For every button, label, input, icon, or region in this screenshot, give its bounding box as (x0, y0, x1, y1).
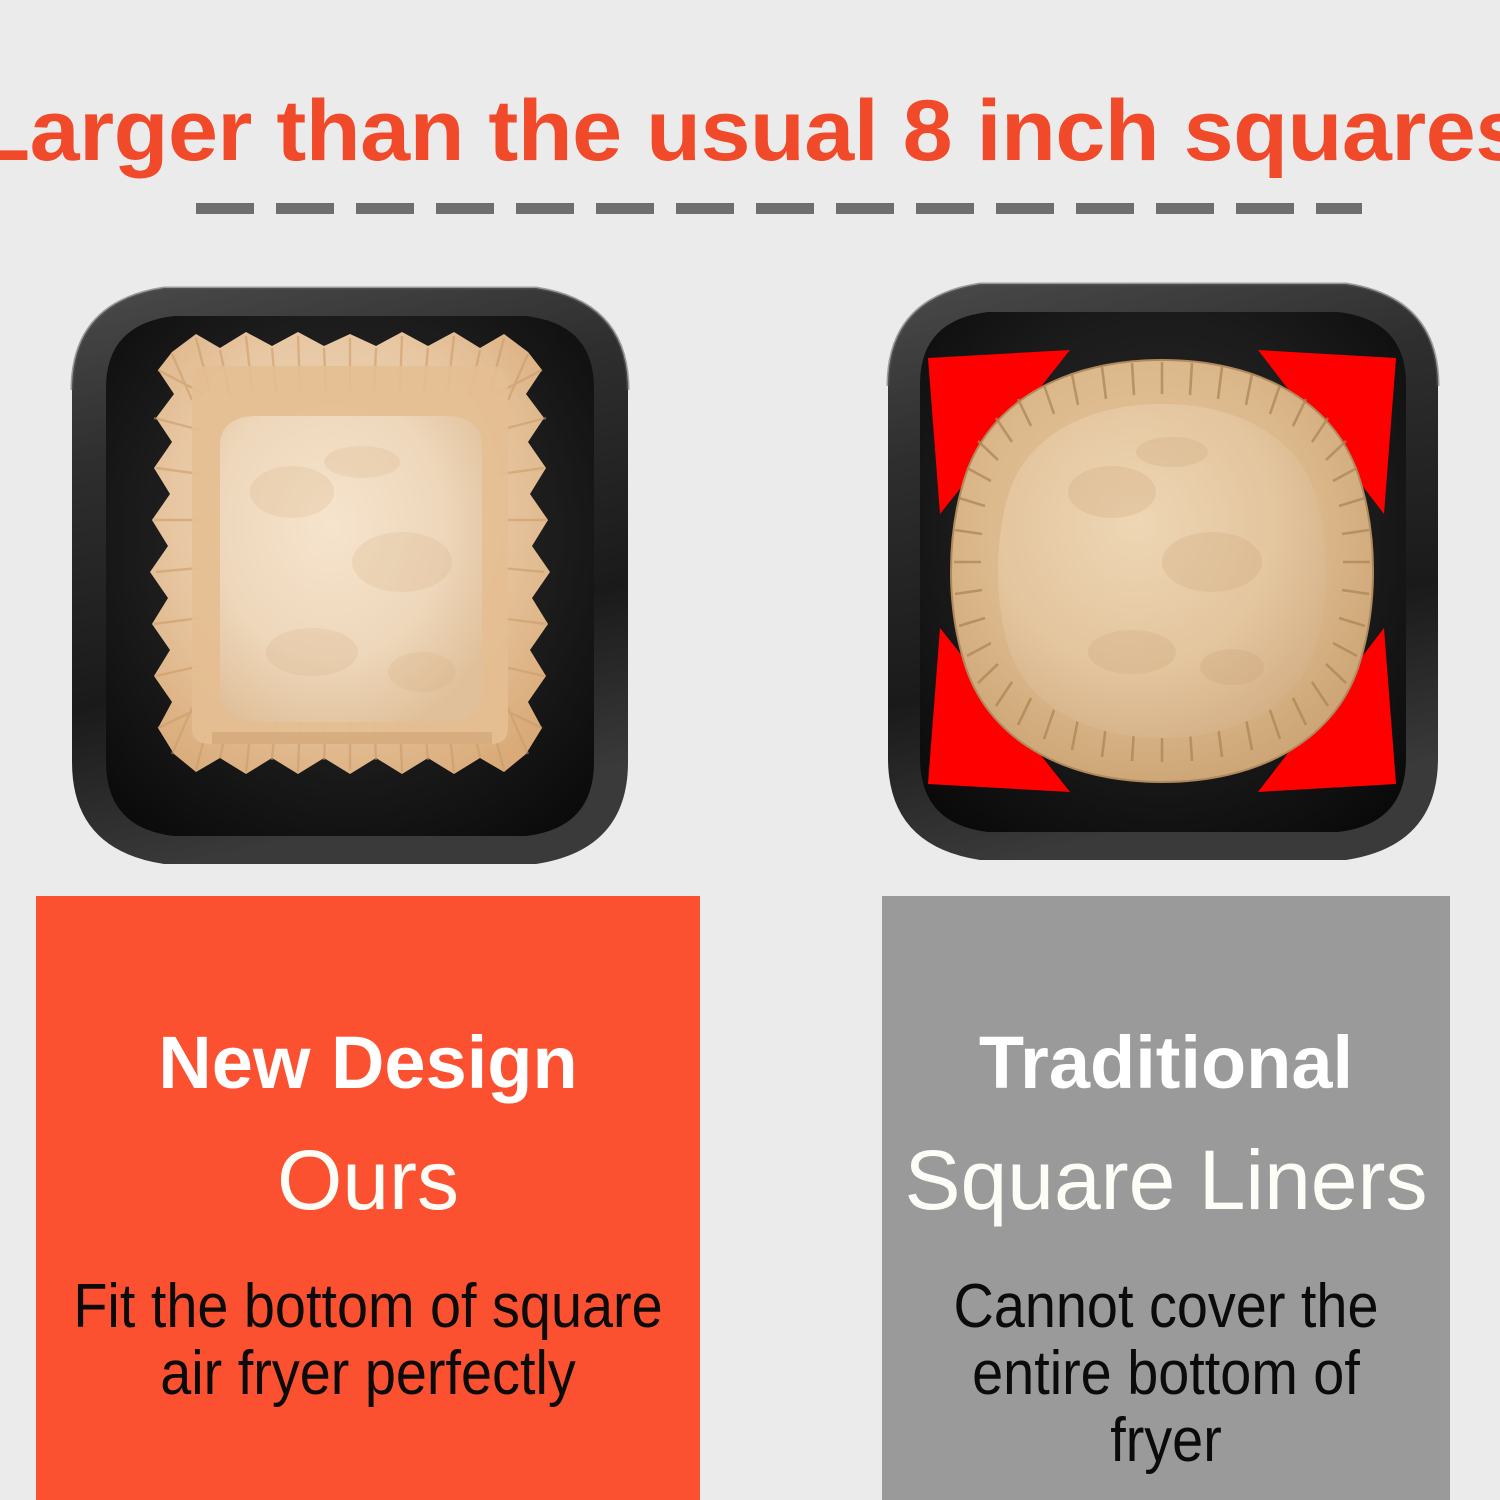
dashed-divider (196, 203, 1362, 214)
panel-traditional-title: Traditional (882, 1026, 1450, 1100)
comparison-panel-ours: New Design Ours Fit the bottom of square… (36, 896, 700, 1500)
panel-traditional-subtitle: Square Liners (882, 1138, 1450, 1222)
panel-traditional-body: Cannot cover the entire bottom of fryer (910, 1274, 1421, 1475)
comparison-panel-traditional: Traditional Square Liners Cannot cover t… (882, 896, 1450, 1500)
parchment-liner-large (150, 332, 550, 774)
air-fryer-basket-photo-ours (42, 262, 658, 882)
panel-ours-title: New Design (36, 1026, 700, 1100)
air-fryer-basket-photo-traditional (862, 262, 1462, 880)
panel-ours-subtitle: Ours (36, 1138, 700, 1222)
page-headline: Larger than the usual 8 inch squares (0, 88, 1500, 174)
panel-ours-body: Fit the bottom of square air fryer perfe… (69, 1274, 667, 1408)
parchment-liner-small (951, 360, 1373, 782)
